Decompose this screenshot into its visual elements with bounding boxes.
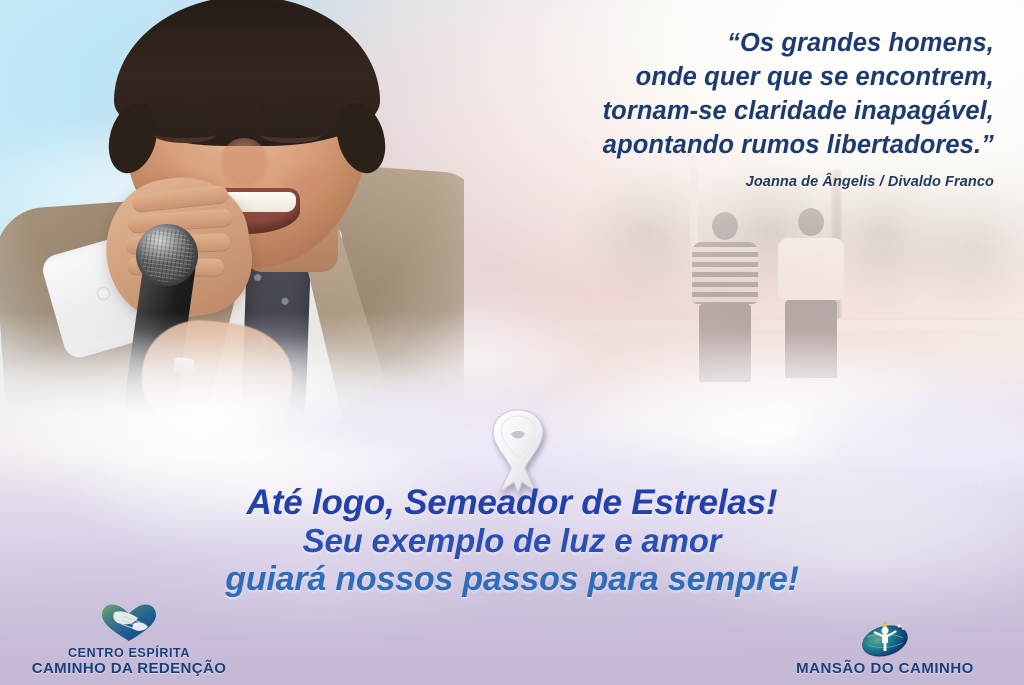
logo-left-text: CENTRO ESPÍRITA CAMINHO DA REDENÇÃO (32, 647, 227, 677)
headline-block: Até logo, Semeador de Estrelas! Seu exem… (0, 484, 1024, 598)
quote-block: “Os grandes homens, onde quer que se enc… (434, 26, 994, 190)
headline-line-1: Até logo, Semeador de Estrelas! (0, 484, 1024, 522)
quote-line-3: tornam-se claridade inapagável, (434, 94, 994, 128)
logo-right-line-2: MANSÃO DO CAMINHO (796, 661, 974, 677)
globe-figure-flame-icon (859, 615, 911, 657)
quote-line-4: apontando rumos libertadores.” (434, 128, 994, 162)
logo-left-line-1: CENTRO ESPÍRITA (32, 647, 227, 661)
quote-attribution: Joanna de Ângelis / Divaldo Franco (434, 174, 994, 190)
headline-line-3: guiará nossos passos para sempre! (0, 560, 1024, 598)
logo-right-text: MANSÃO DO CAMINHO (796, 661, 974, 677)
memorial-poster: “Os grandes homens, onde quer que se enc… (0, 0, 1024, 685)
quote-line-1: “Os grandes homens, (434, 26, 994, 60)
heart-hands-icon (100, 603, 158, 643)
headline-line-2: Seu exemplo de luz e amor (0, 522, 1024, 560)
logo-left-line-2: CAMINHO DA REDENÇÃO (32, 661, 227, 677)
logo-centro-espirita: CENTRO ESPÍRITA CAMINHO DA REDENÇÃO (14, 603, 244, 677)
quote-line-2: onde quer que se encontrem, (434, 60, 994, 94)
logo-mansao-do-caminho: MANSÃO DO CAMINHO (760, 615, 1010, 677)
